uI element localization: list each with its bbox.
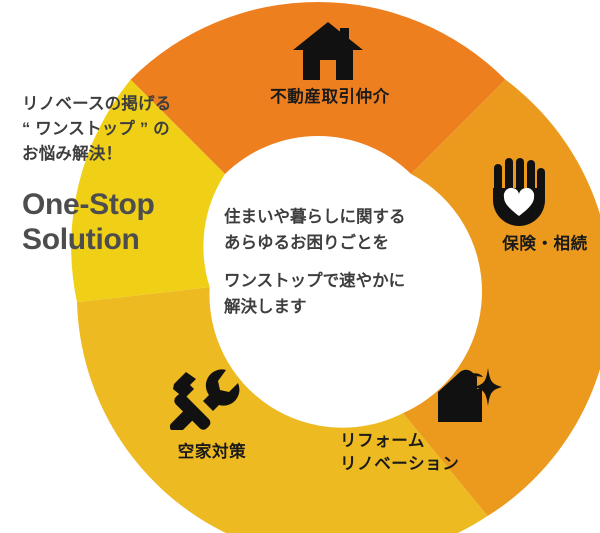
segment-label-insurance: 保険・相続 [502,233,588,256]
lead-line-1: リノベースの掲げる [22,92,222,117]
center-text-gap [224,257,464,268]
center-line-4: 解決します [224,294,464,320]
hand-heart-icon [491,158,547,226]
headline-line-2: Solution [22,223,222,258]
house-sparkle-icon [430,368,502,430]
segment-label-line: リフォーム [340,430,459,453]
segment-label-line: 保険・相続 [502,233,588,256]
segment-label-real-estate: 不動産取引仲介 [270,86,390,109]
lead-line-2: “ ワンストップ ” の [22,117,222,142]
segment-label-reform: リフォーム リノベーション [340,430,459,477]
center-line-1: 住まいや暮らしに関する [224,204,464,230]
hammer-wrench-icon [170,368,240,430]
center-line-2: あらゆるお困りごとを [224,230,464,256]
center-line-3: ワンストップで速やかに [224,268,464,294]
segment-label-line: 空家対策 [178,441,246,464]
segment-label-line: リノベーション [340,453,459,476]
headline: One-Stop Solution [22,188,222,258]
infographic-canvas: 不動産取引仲介 保険・相続 リフォーム リノベーション 空家対策 リノベースの掲… [0,0,600,533]
center-text-block: 住まいや暮らしに関する あらゆるお困りごとを ワンストップで速やかに 解決します [224,204,464,321]
lead-line-3: お悩み解決！ [22,142,222,167]
segment-label-vacant-house: 空家対策 [178,441,246,464]
segment-label-line: 不動産取引仲介 [270,86,390,109]
house-icon [293,22,363,80]
headline-line-1: One-Stop [22,188,222,223]
title-block: リノベースの掲げる “ ワンストップ ” の お悩み解決！ One-Stop S… [22,92,222,258]
